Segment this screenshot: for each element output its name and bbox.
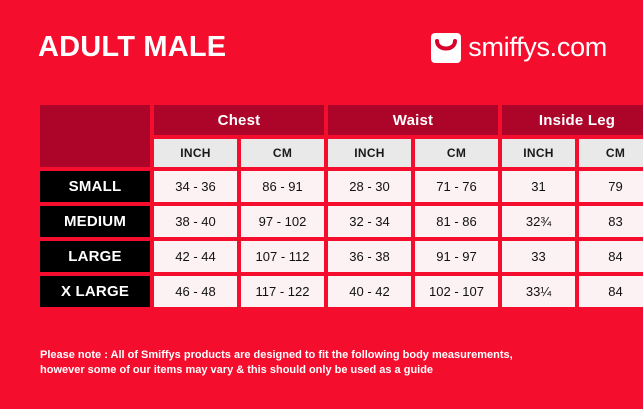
cell-medium-waist-cm: 81 - 86: [415, 206, 498, 237]
cell-small-chest-cm: 86 - 91: [241, 171, 324, 202]
disclaimer-note: Please note : All of Smiffys products ar…: [40, 348, 600, 378]
cell-x-large-chest-cm: 117 - 122: [241, 276, 324, 307]
group-header-inside-leg: Inside Leg: [502, 105, 643, 135]
size-label-large: LARGE: [40, 241, 150, 272]
cell-small-waist-cm: 71 - 76: [415, 171, 498, 202]
unit-header-leg-inch: INCH: [502, 139, 575, 167]
unit-header-chest-cm: CM: [241, 139, 324, 167]
cell-small-waist-inch: 28 - 30: [328, 171, 411, 202]
cell-x-large-leg-inch: 33¼: [502, 276, 575, 307]
page-header: ADULT MALE smiffys.com: [0, 0, 643, 95]
table-row: MEDIUM 38 - 40 97 - 102 32 - 34 81 - 86 …: [40, 206, 643, 237]
table-corner-cell: [40, 105, 150, 167]
cell-large-waist-cm: 91 - 97: [415, 241, 498, 272]
table-row: SMALL 34 - 36 86 - 91 28 - 30 71 - 76 31…: [40, 171, 643, 202]
cell-medium-waist-inch: 32 - 34: [328, 206, 411, 237]
size-label-medium: MEDIUM: [40, 206, 150, 237]
cell-medium-leg-inch: 32¾: [502, 206, 575, 237]
size-label-small: SMALL: [40, 171, 150, 202]
table-group-header-row: Chest Waist Inside Leg: [40, 105, 643, 135]
cell-x-large-waist-cm: 102 - 107: [415, 276, 498, 307]
cell-small-chest-inch: 34 - 36: [154, 171, 237, 202]
unit-header-leg-cm: CM: [579, 139, 643, 167]
page-title: ADULT MALE: [38, 33, 226, 62]
size-chart-table: Chest Waist Inside Leg INCH CM INCH CM I…: [36, 101, 643, 311]
disclaimer-line-1: Please note : All of Smiffys products ar…: [40, 348, 600, 363]
cell-x-large-chest-inch: 46 - 48: [154, 276, 237, 307]
cell-large-leg-inch: 33: [502, 241, 575, 272]
cell-medium-chest-cm: 97 - 102: [241, 206, 324, 237]
size-label-x-large: X LARGE: [40, 276, 150, 307]
disclaimer-line-2: however some of our items may vary & thi…: [40, 363, 600, 378]
cell-large-chest-inch: 42 - 44: [154, 241, 237, 272]
cell-x-large-leg-cm: 84: [579, 276, 643, 307]
cell-large-chest-cm: 107 - 112: [241, 241, 324, 272]
group-header-waist: Waist: [328, 105, 498, 135]
brand-logo: smiffys.com: [431, 33, 607, 63]
group-header-chest: Chest: [154, 105, 324, 135]
cell-medium-leg-cm: 83: [579, 206, 643, 237]
cell-large-waist-inch: 36 - 38: [328, 241, 411, 272]
cell-small-leg-cm: 79: [579, 171, 643, 202]
table-row: X LARGE 46 - 48 117 - 122 40 - 42 102 - …: [40, 276, 643, 307]
smile-mark-icon: [431, 33, 461, 63]
unit-header-waist-cm: CM: [415, 139, 498, 167]
table-row: LARGE 42 - 44 107 - 112 36 - 38 91 - 97 …: [40, 241, 643, 272]
cell-x-large-waist-inch: 40 - 42: [328, 276, 411, 307]
cell-medium-chest-inch: 38 - 40: [154, 206, 237, 237]
unit-header-waist-inch: INCH: [328, 139, 411, 167]
cell-small-leg-inch: 31: [502, 171, 575, 202]
cell-large-leg-cm: 84: [579, 241, 643, 272]
brand-name: smiffys.com: [468, 34, 607, 61]
unit-header-chest-inch: INCH: [154, 139, 237, 167]
